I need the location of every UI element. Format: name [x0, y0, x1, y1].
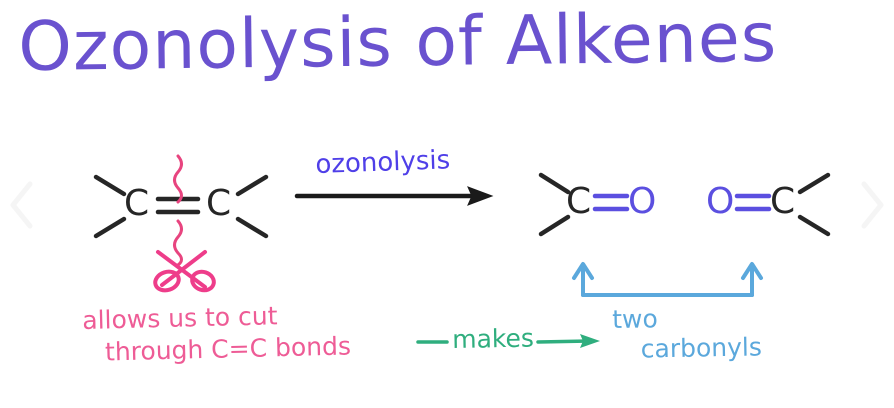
carbonyl-right-oxygen-label: O [706, 184, 734, 220]
blue-annotation-line-2: carbonyls [613, 335, 763, 364]
reaction-arrow-label: ozonolysis [315, 147, 451, 179]
pink-annotation: allows us to cut through C=C bonds [82, 301, 351, 366]
carbonyl-left-double-bond [595, 196, 627, 209]
blue-annotation: two carbonyls [612, 304, 762, 363]
pink-annotation-line-1: allows us to cut [82, 301, 278, 335]
alkene-carbon-right-label: C [206, 186, 231, 222]
alkene-carbon-left-label: C [124, 186, 149, 222]
carbonyl-left-substituents [541, 175, 568, 234]
reaction-arrow [297, 187, 492, 205]
blue-annotation-line-1: two [612, 304, 658, 334]
makes-label: makes [452, 326, 534, 354]
scissors-icon [153, 252, 216, 293]
carbonyl-left-oxygen-label: O [628, 184, 656, 220]
alkene-left-substituents [96, 177, 124, 236]
two-carbonyls-bracket [574, 264, 761, 295]
carbonyl-right-carbon-label: C [770, 184, 795, 220]
carbonyl-left-carbon-label: C [566, 184, 591, 220]
alkene-right-substituents [238, 177, 266, 236]
carbonyl-right-double-bond [737, 196, 769, 209]
slide-canvas: Ozonolysis of Alkenes [0, 0, 894, 408]
carbonyl-right-substituents [800, 175, 828, 234]
